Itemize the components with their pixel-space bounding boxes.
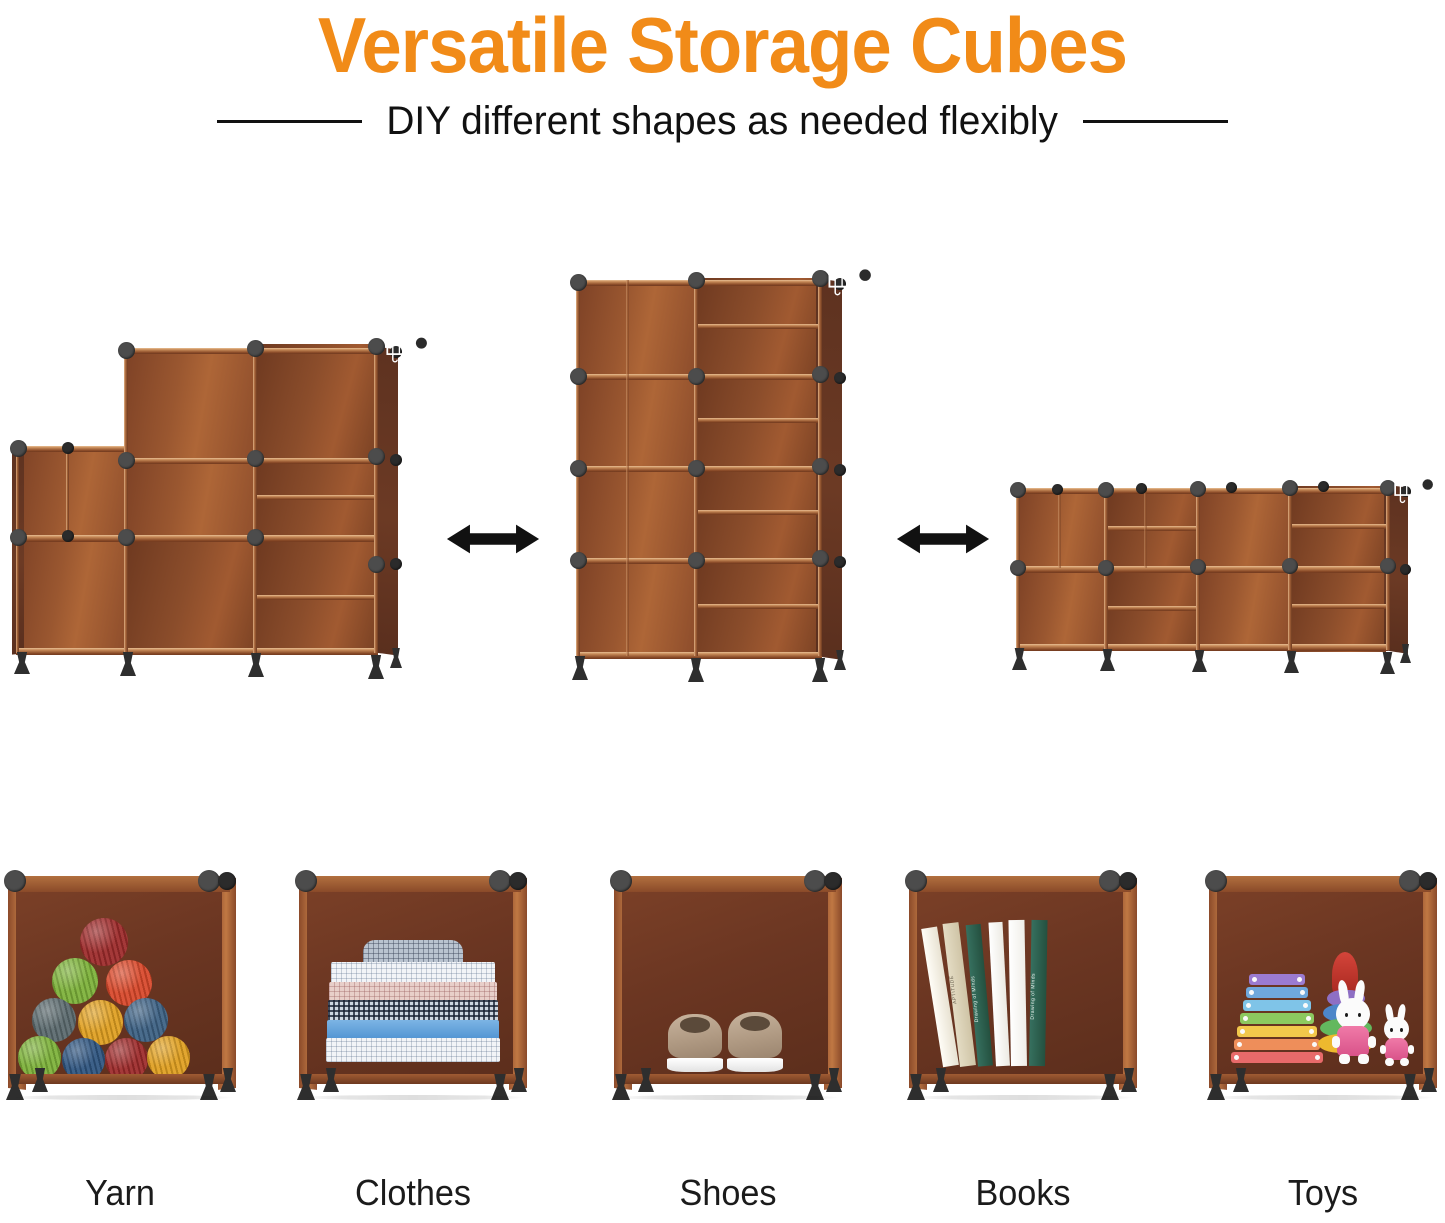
connector-knob xyxy=(1098,560,1114,576)
wide-low-configuration xyxy=(1000,478,1430,678)
use-case-cube-toys xyxy=(1203,868,1443,1096)
yarn-ball xyxy=(52,958,98,1004)
shoe-sole xyxy=(667,1058,723,1072)
connector-knob xyxy=(804,870,826,892)
caption-clothes: Clothes xyxy=(299,1172,527,1214)
connector-knob xyxy=(10,440,27,457)
rack-foot xyxy=(120,652,136,676)
cube-shadow xyxy=(301,1095,525,1100)
folded-shirt xyxy=(328,1000,498,1022)
connector-knob xyxy=(247,340,264,357)
divider xyxy=(1144,488,1147,568)
cube-floor-panel xyxy=(622,1074,834,1084)
staircase-configuration xyxy=(8,330,428,690)
shelf xyxy=(1016,644,1388,651)
panel-back xyxy=(1290,570,1386,652)
connector-knob xyxy=(570,460,587,477)
shoe-right xyxy=(728,1012,782,1072)
divider xyxy=(16,446,19,653)
connector-knob xyxy=(1226,482,1237,493)
rule-left xyxy=(217,120,362,123)
connector-knob xyxy=(1400,564,1411,575)
connector-knob xyxy=(62,442,74,454)
xylophone-bar xyxy=(1243,1000,1311,1011)
connector-knob xyxy=(1010,560,1026,576)
connector-knob xyxy=(610,870,632,892)
cube-shadow xyxy=(616,1095,840,1100)
use-case-cube-books: APTITUDE Drawing of Minds Drawing of Min… xyxy=(903,868,1143,1096)
rack-foot xyxy=(688,658,704,682)
connector-knob xyxy=(198,870,220,892)
connector-knob xyxy=(570,274,587,291)
cube-floor-panel xyxy=(917,1074,1129,1084)
caption-books: Books xyxy=(909,1172,1137,1214)
arrow-left-middle xyxy=(445,518,541,560)
cube-floor-panel xyxy=(307,1074,519,1084)
panel-back xyxy=(1018,570,1106,646)
use-case-cube-clothes xyxy=(293,868,533,1096)
subtitle-row: DIY different shapes as needed flexibly xyxy=(0,98,1445,144)
connector-knob xyxy=(62,530,74,542)
connector-knob xyxy=(812,366,829,383)
bunny-eye xyxy=(1358,1013,1361,1017)
panel-back xyxy=(578,378,696,470)
panel-back xyxy=(18,538,128,650)
folded-shirt xyxy=(329,982,497,1002)
panel-back xyxy=(696,378,818,470)
connector-knob xyxy=(509,872,527,890)
shoe-left xyxy=(668,1014,722,1072)
use-case-cube-shoes xyxy=(608,868,848,1096)
connector-knob xyxy=(1190,559,1206,575)
xylophone-bar xyxy=(1231,1052,1323,1063)
shoe-sole xyxy=(727,1058,783,1072)
connector-knob xyxy=(1318,481,1329,492)
xylophone-bar xyxy=(1240,1013,1314,1024)
bunny-foot xyxy=(1385,1058,1394,1066)
arrow-middle-right xyxy=(895,518,991,560)
connector-knob xyxy=(570,552,587,569)
rack-foot xyxy=(1100,649,1115,671)
cube-shadow xyxy=(10,1095,234,1100)
rack-foot xyxy=(1192,650,1207,672)
bunny-eye xyxy=(1400,1028,1403,1032)
xylophone-bar xyxy=(1249,974,1305,985)
connector-knob xyxy=(688,272,705,289)
divider xyxy=(253,346,257,653)
panel-back xyxy=(696,470,818,562)
divider xyxy=(124,348,128,653)
xylophone-bar xyxy=(1246,987,1308,998)
rack-foot xyxy=(1012,648,1027,670)
rack-foot xyxy=(572,656,588,680)
connector-knob xyxy=(247,450,264,467)
connector-knob xyxy=(1099,870,1121,892)
divider xyxy=(1058,488,1061,568)
bunny-arm xyxy=(1368,1036,1376,1048)
shelf xyxy=(576,652,822,659)
connector-knob xyxy=(118,342,135,359)
rack-foot xyxy=(812,658,828,682)
connector-knob xyxy=(688,460,705,477)
connector-knob xyxy=(247,529,264,546)
cube-shadow xyxy=(911,1095,1135,1100)
book: Drawing of Minds xyxy=(1029,920,1048,1066)
connector-knob xyxy=(390,454,402,466)
caption-yarn: Yarn xyxy=(6,1172,234,1214)
side-hook-rack-icon xyxy=(1392,478,1434,510)
shelf-half xyxy=(1288,604,1388,609)
divider xyxy=(66,446,69,536)
connector-knob xyxy=(218,872,236,890)
rack-foot xyxy=(368,655,384,679)
shoe-opening xyxy=(680,1017,710,1032)
connector-knob xyxy=(1190,481,1206,497)
book xyxy=(1008,920,1027,1066)
bunny-arm xyxy=(1380,1045,1386,1054)
bunny-large xyxy=(1331,980,1377,1066)
bunny-body xyxy=(1385,1038,1408,1060)
rack-foot xyxy=(14,652,30,674)
cube-shadow xyxy=(1211,1095,1435,1100)
panel-back xyxy=(578,562,696,656)
caption-shoes: Shoes xyxy=(614,1172,842,1214)
side-hook-rack-icon xyxy=(384,336,428,370)
bunny-arm xyxy=(1332,1036,1340,1048)
bunny-eye xyxy=(1390,1028,1393,1032)
yarn-ball xyxy=(80,918,128,966)
connector-knob xyxy=(118,529,135,546)
yarn-ball xyxy=(147,1036,190,1079)
xylophone-bar xyxy=(1234,1039,1320,1050)
connector-knob xyxy=(824,872,842,890)
connector-knob xyxy=(1098,482,1114,498)
connector-knob xyxy=(905,870,927,892)
divider xyxy=(626,280,629,656)
shelf-half xyxy=(254,595,378,600)
bunny-small xyxy=(1379,1004,1415,1066)
folded-shirt xyxy=(363,940,463,964)
connector-knob xyxy=(1282,480,1298,496)
connector-knob xyxy=(1205,870,1227,892)
connector-knob xyxy=(1010,482,1026,498)
side-hook-rack-icon xyxy=(826,268,872,303)
caption-toys: Toys xyxy=(1209,1172,1437,1214)
shelf-half xyxy=(1288,524,1388,529)
connector-knob xyxy=(10,529,27,546)
shelf-half xyxy=(1104,606,1200,611)
panel-back xyxy=(1018,492,1106,570)
divider xyxy=(374,346,378,653)
connector-knob xyxy=(1380,558,1396,574)
connector-knob xyxy=(570,368,587,385)
page-title: Versatile Storage Cubes xyxy=(51,2,1395,88)
panel-back xyxy=(1198,488,1290,570)
connector-knob xyxy=(118,452,135,469)
infographic-page: Versatile Storage Cubes DIY different sh… xyxy=(0,0,1445,1223)
folded-shirt xyxy=(326,1038,500,1062)
rack-foot xyxy=(1284,651,1299,673)
bunny-arm xyxy=(1408,1045,1414,1054)
panel-back xyxy=(578,470,696,562)
connector-knob xyxy=(834,556,846,568)
xylophone-bar xyxy=(1237,1026,1317,1037)
cube-back-panel xyxy=(622,884,828,1082)
panel-back xyxy=(126,350,256,462)
cube-floor-panel xyxy=(16,1074,228,1084)
connector-knob xyxy=(1419,872,1437,890)
shelf xyxy=(16,648,378,655)
bunny-foot xyxy=(1400,1058,1409,1066)
book-spine-text: APTITUDE xyxy=(949,974,968,1004)
shelf-half xyxy=(694,418,822,423)
connector-knob xyxy=(1052,484,1063,495)
connector-knob xyxy=(834,464,846,476)
connector-knob xyxy=(4,870,26,892)
panel-back xyxy=(256,344,374,462)
shelf-half xyxy=(254,495,378,500)
connector-knob xyxy=(368,338,385,355)
connector-knob xyxy=(295,870,317,892)
bunny-foot xyxy=(1339,1054,1350,1064)
shoe-opening xyxy=(740,1016,770,1032)
folded-shirt xyxy=(331,962,495,984)
connector-knob xyxy=(1399,870,1421,892)
tall-tower-configuration xyxy=(560,268,860,668)
connector-knob xyxy=(834,372,846,384)
connector-knob xyxy=(368,556,385,573)
panel-back xyxy=(1198,570,1290,650)
rack-foot xyxy=(1380,652,1395,674)
connector-knob xyxy=(688,552,705,569)
page-subtitle: DIY different shapes as needed flexibly xyxy=(387,98,1059,144)
connector-knob xyxy=(1119,872,1137,890)
yarn-ball xyxy=(124,998,168,1042)
shelf-half xyxy=(694,604,822,609)
panel-back xyxy=(696,562,818,656)
connector-knob xyxy=(812,550,829,567)
rack-foot xyxy=(248,653,264,677)
panel-back xyxy=(578,282,696,378)
shelf-half xyxy=(694,324,822,329)
bunny-body xyxy=(1337,1026,1369,1056)
shelf-half xyxy=(1104,526,1200,531)
book-spine-text: Drawing of Minds xyxy=(1030,972,1047,1019)
bunny-foot xyxy=(1358,1054,1369,1064)
connector-knob xyxy=(1136,483,1147,494)
connector-knob xyxy=(812,458,829,475)
connector-knob xyxy=(390,558,402,570)
connector-knob xyxy=(688,368,705,385)
connector-knob xyxy=(1282,558,1298,574)
connector-knob xyxy=(489,870,511,892)
use-case-cube-yarn xyxy=(2,868,242,1096)
bunny-eye xyxy=(1345,1013,1348,1017)
rule-right xyxy=(1083,120,1228,123)
panel-back xyxy=(126,542,256,652)
cube-floor-panel xyxy=(1217,1074,1429,1084)
shelf-half xyxy=(694,510,822,515)
connector-knob xyxy=(368,448,385,465)
folded-shirt xyxy=(327,1020,499,1040)
